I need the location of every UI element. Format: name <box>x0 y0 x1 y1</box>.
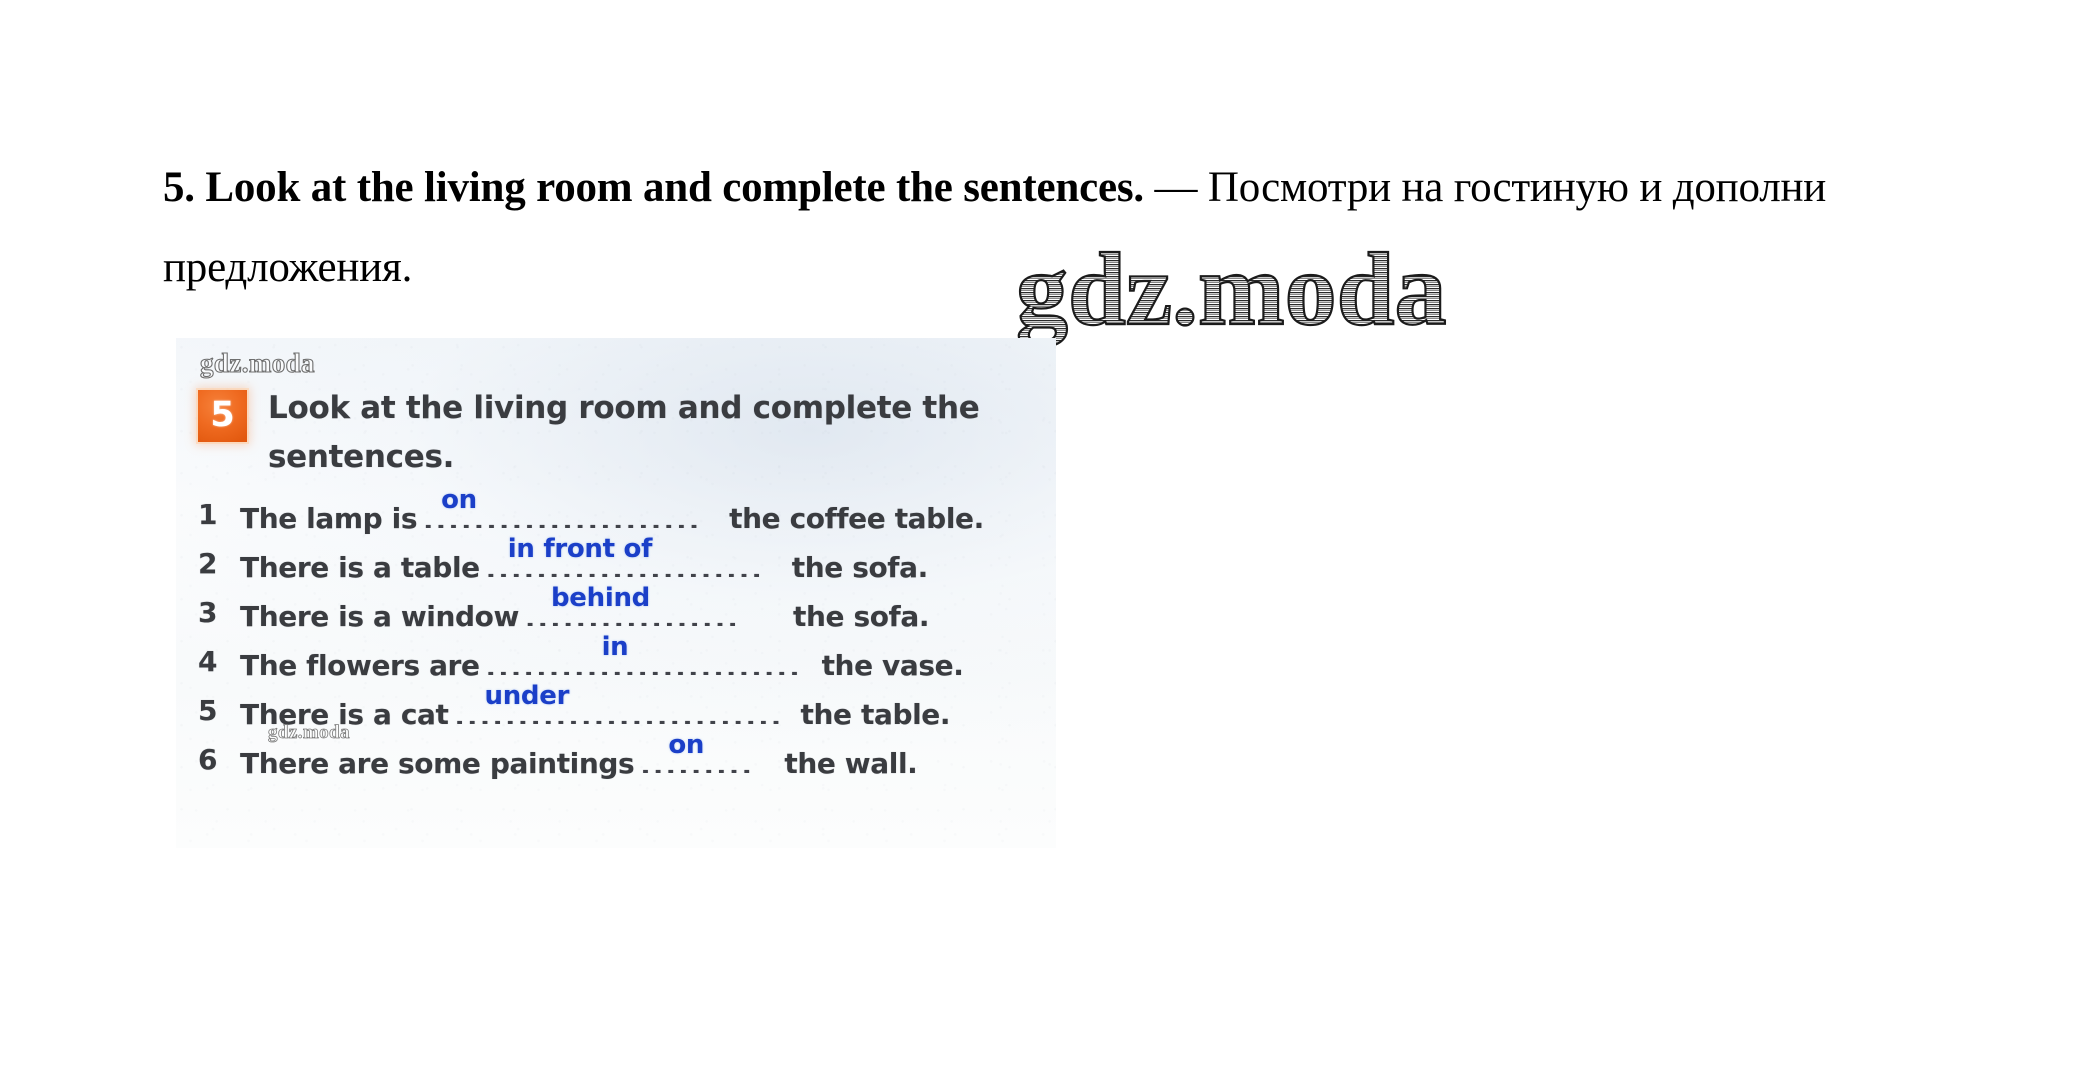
sentence-answer-gap: in ......................... <box>486 645 816 675</box>
sentence-tail: the table. <box>801 698 951 731</box>
sentence-number: 2 <box>198 547 224 580</box>
sentence-row: 6 There are some paintings on ......... … <box>176 735 1056 784</box>
exercise-number-badge: 5 <box>198 390 247 442</box>
sentence-answer-gap: on ...................... <box>423 498 723 528</box>
sentence-number: 4 <box>198 645 224 678</box>
sentence-answer-gap: behind ................. <box>525 596 787 626</box>
sentence-number: 6 <box>198 743 224 776</box>
sentence-tail: the wall. <box>784 747 917 780</box>
sentence-answer-gap: on ......... <box>640 743 778 773</box>
sentence-dotted-line: ...................... <box>486 565 786 577</box>
sentence-row: 5 There is a cat under .................… <box>176 686 1056 735</box>
sentence-lead: The lamp is <box>240 502 417 535</box>
sentence-answer: behind <box>551 583 650 613</box>
sentence-answer: on <box>441 485 477 515</box>
sentence-dotted-line: ................. <box>525 614 787 626</box>
sentence-lead: There is a cat <box>240 698 449 731</box>
sentence-dotted-line: ......................... <box>486 663 816 675</box>
sentence-answer: on <box>668 730 704 760</box>
sentence-row: 4 The flowers are in ...................… <box>176 637 1056 686</box>
textbook-scan-image: gdz.moda 5 Look at the living room and c… <box>176 338 1056 848</box>
sentence-row: 1 The lamp is on ...................... … <box>176 490 1056 539</box>
sentence-answer: under <box>485 681 570 711</box>
sentence-lead: The flowers are <box>240 649 480 682</box>
sentence-dotted-line: ...................... <box>423 516 723 528</box>
sentence-number: 1 <box>198 498 224 531</box>
task-statement-english: 5. Look at the living room and complete … <box>163 164 1144 211</box>
sentence-row: 2 There is a table in front of .........… <box>176 539 1056 588</box>
sentence-tail: the sofa. <box>792 551 928 584</box>
sentence-lead: There is a table <box>240 551 480 584</box>
task-statement-dash: — <box>1144 164 1208 211</box>
exercise-number-badge-label: 5 <box>210 398 234 433</box>
sentence-lead: There is a window <box>240 600 519 633</box>
sentence-dotted-line: .......................... <box>455 712 795 724</box>
sentence-lead: There are some paintings <box>240 747 634 780</box>
sentence-tail: the vase. <box>822 649 964 682</box>
sentence-number: 5 <box>198 694 224 727</box>
sentence-answer-gap: under .......................... <box>455 694 795 724</box>
sentence-answer-gap: in front of ...................... <box>486 547 786 577</box>
sentence-answer: in front of <box>508 534 652 564</box>
sentence-tail: the coffee table. <box>729 502 984 535</box>
sentence-row: 3 There is a window behind .............… <box>176 588 1056 637</box>
task-statement: 5. Look at the living room and complete … <box>163 148 1953 308</box>
sentence-tail: the sofa. <box>793 600 929 633</box>
watermark-scan-top: gdz.moda <box>200 348 315 379</box>
sentence-list: 1 The lamp is on ...................... … <box>176 490 1056 784</box>
scan-instruction-text: Look at the living room and complete the… <box>268 384 988 482</box>
sentence-number: 3 <box>198 596 224 629</box>
sentence-answer: in <box>602 632 629 662</box>
sentence-dotted-line: ......... <box>640 761 778 773</box>
